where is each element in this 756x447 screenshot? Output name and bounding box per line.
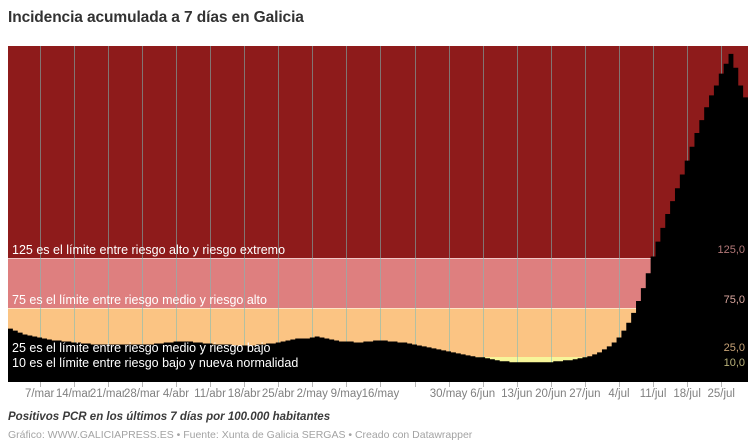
x-axis-tick (585, 382, 586, 387)
x-axis-tick-label: 30/may (430, 388, 468, 400)
y-axis-label-25: 25,0 (724, 342, 745, 354)
x-axis-tick-label: 9/may (331, 388, 362, 400)
x-axis-tick-label: 4/abr (163, 388, 189, 400)
x-axis-tick-label: 27/jun (569, 388, 600, 400)
x-axis-tick-label: 2/may (297, 388, 328, 400)
x-axis-tick-label: 25/abr (262, 388, 295, 400)
x-axis-tick (653, 382, 654, 387)
x-axis-tick-label: 21/mar (90, 388, 126, 400)
x-axis-tick (619, 382, 620, 387)
annotation-limit-75: 75 es el límite entre riesgo medio y rie… (12, 293, 267, 307)
x-axis-tick (517, 382, 518, 387)
annotation-limit-25: 25 es el límite entre riesgo medio y rie… (12, 341, 270, 355)
page-title: Incidencia acumulada a 7 días en Galicia (8, 8, 748, 28)
x-axis-tick (415, 382, 416, 387)
x-axis-tick (721, 382, 722, 387)
x-axis-tick-label: 18/jul (673, 388, 701, 400)
x-axis-tick (142, 382, 143, 387)
x-axis-tick (278, 382, 279, 387)
series-area (8, 46, 748, 382)
y-axis-label-75: 75,0 (724, 294, 745, 306)
x-axis-tick (449, 382, 450, 387)
x-axis: 7/mar14/mar21/mar28/mar4/abr11/abr18/abr… (8, 382, 748, 408)
x-axis-tick (483, 382, 484, 387)
x-axis-tick-label: 16/may (362, 388, 400, 400)
footer-note: Positivos PCR en los últimos 7 días por … (8, 411, 330, 423)
x-axis-tick-label: 18/abr (228, 388, 261, 400)
footer-credit: Gráfico: WWW.GALICIAPRESS.ES • Fuente: X… (8, 429, 472, 441)
x-axis-tick (380, 382, 381, 387)
y-axis-label-10: 10,0 (724, 357, 745, 369)
x-axis-tick-label: 14/mar (56, 388, 92, 400)
x-axis-tick-label: 6/jun (470, 388, 495, 400)
x-axis-tick (74, 382, 75, 387)
chart-page: Incidencia acumulada a 7 días en Galicia… (0, 0, 756, 447)
x-axis-tick-label: 11/abr (194, 388, 226, 400)
plot-area: 125 es el límite entre riesgo alto y rie… (8, 46, 748, 382)
x-axis-tick (176, 382, 177, 387)
x-axis-tick (312, 382, 313, 387)
x-axis-tick (40, 382, 41, 387)
y-axis-label-125: 125,0 (717, 244, 745, 256)
annotation-limit-125: 125 es el límite entre riesgo alto y rie… (12, 243, 285, 257)
x-axis-tick (244, 382, 245, 387)
x-axis-tick (346, 382, 347, 387)
x-axis-tick-label: 28/mar (124, 388, 160, 400)
x-axis-tick (687, 382, 688, 387)
annotation-limit-10: 10 es el límite entre riesgo bajo y nuev… (12, 356, 298, 370)
x-axis-tick-label: 11/jul (640, 388, 667, 400)
x-axis-tick-label: 7/mar (25, 388, 54, 400)
x-axis-tick-label: 25/jul (707, 388, 735, 400)
x-axis-tick-label: 4/jul (608, 388, 629, 400)
x-axis-tick-label: 13/jun (501, 388, 532, 400)
x-axis-tick (210, 382, 211, 387)
x-axis-tick-label: 20/jun (535, 388, 566, 400)
x-axis-tick (108, 382, 109, 387)
x-axis-tick (551, 382, 552, 387)
